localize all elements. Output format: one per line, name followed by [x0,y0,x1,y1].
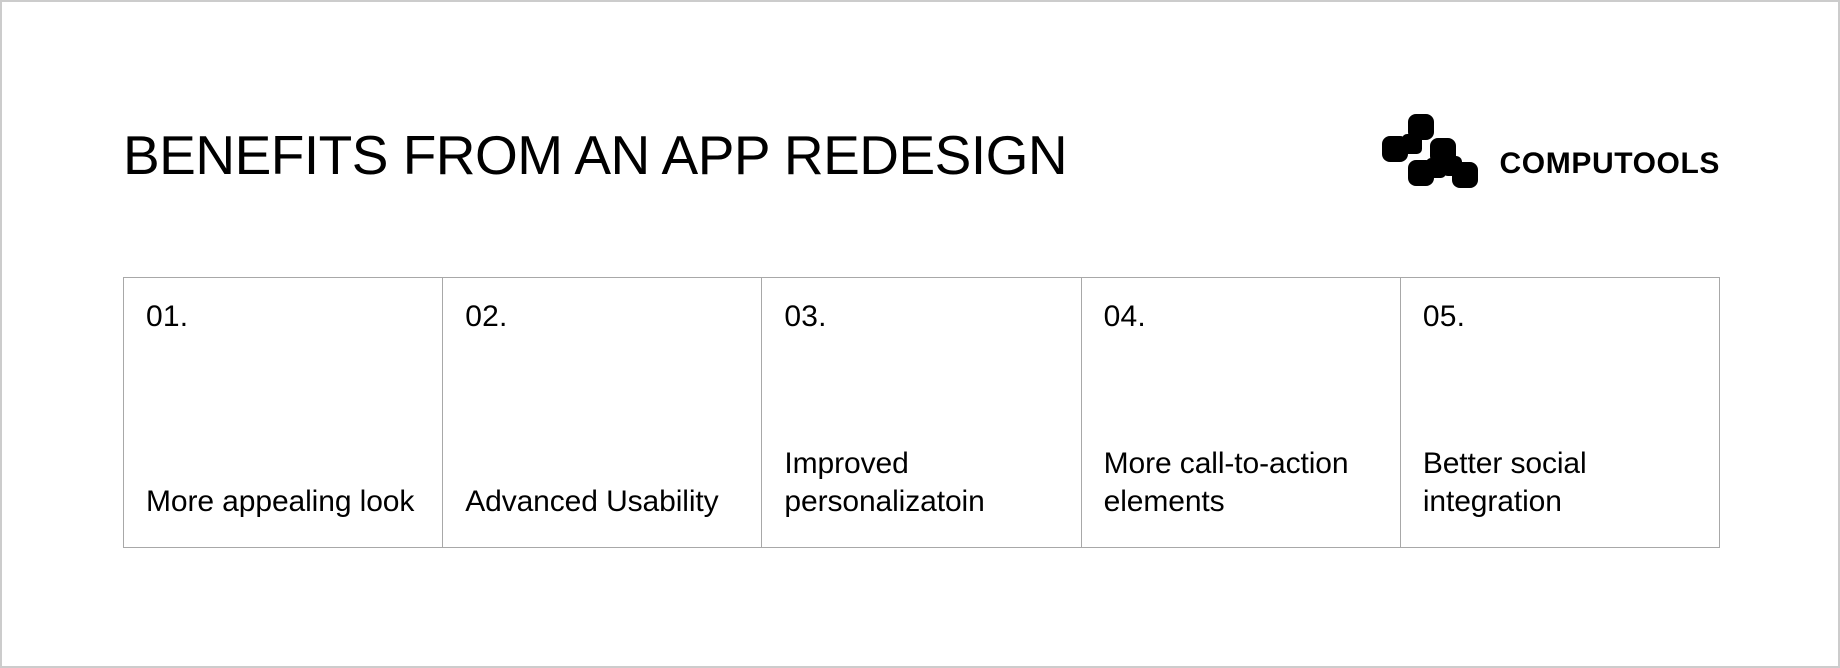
slide-header: BENEFITS FROM AN APP REDESIGN COMPUTOOLS [123,110,1720,202]
slide-canvas: BENEFITS FROM AN APP REDESIGN COMPUTOOLS [0,0,1840,668]
benefits-table: 01. More appealing look 02. Advanced Usa… [123,277,1720,548]
benefit-label: Better social integration [1423,445,1695,521]
benefit-number: 02. [465,300,737,333]
benefit-number: 05. [1423,300,1695,333]
benefit-cell-03: 03. Improved personalizatoin [762,278,1081,547]
benefit-cell-05: 05. Better social integration [1401,278,1719,547]
benefit-label: More appealing look [146,483,418,521]
benefit-label: Advanced Usability [465,483,737,521]
brand-logo: COMPUTOOLS [1382,114,1720,198]
benefit-cell-01: 01. More appealing look [124,278,443,547]
benefit-cell-04: 04. More call-to-action elements [1082,278,1401,547]
benefit-label: More call-to-action elements [1104,445,1376,521]
benefit-number: 03. [784,300,1056,333]
computools-blocks-logo-icon [1382,114,1478,198]
page-title: BENEFITS FROM AN APP REDESIGN [123,127,1067,185]
brand-wordmark: COMPUTOOLS [1500,149,1720,179]
benefit-label: Improved personalizatoin [784,445,1056,521]
benefit-number: 01. [146,300,418,333]
benefit-cell-02: 02. Advanced Usability [443,278,762,547]
benefit-number: 04. [1104,300,1376,333]
